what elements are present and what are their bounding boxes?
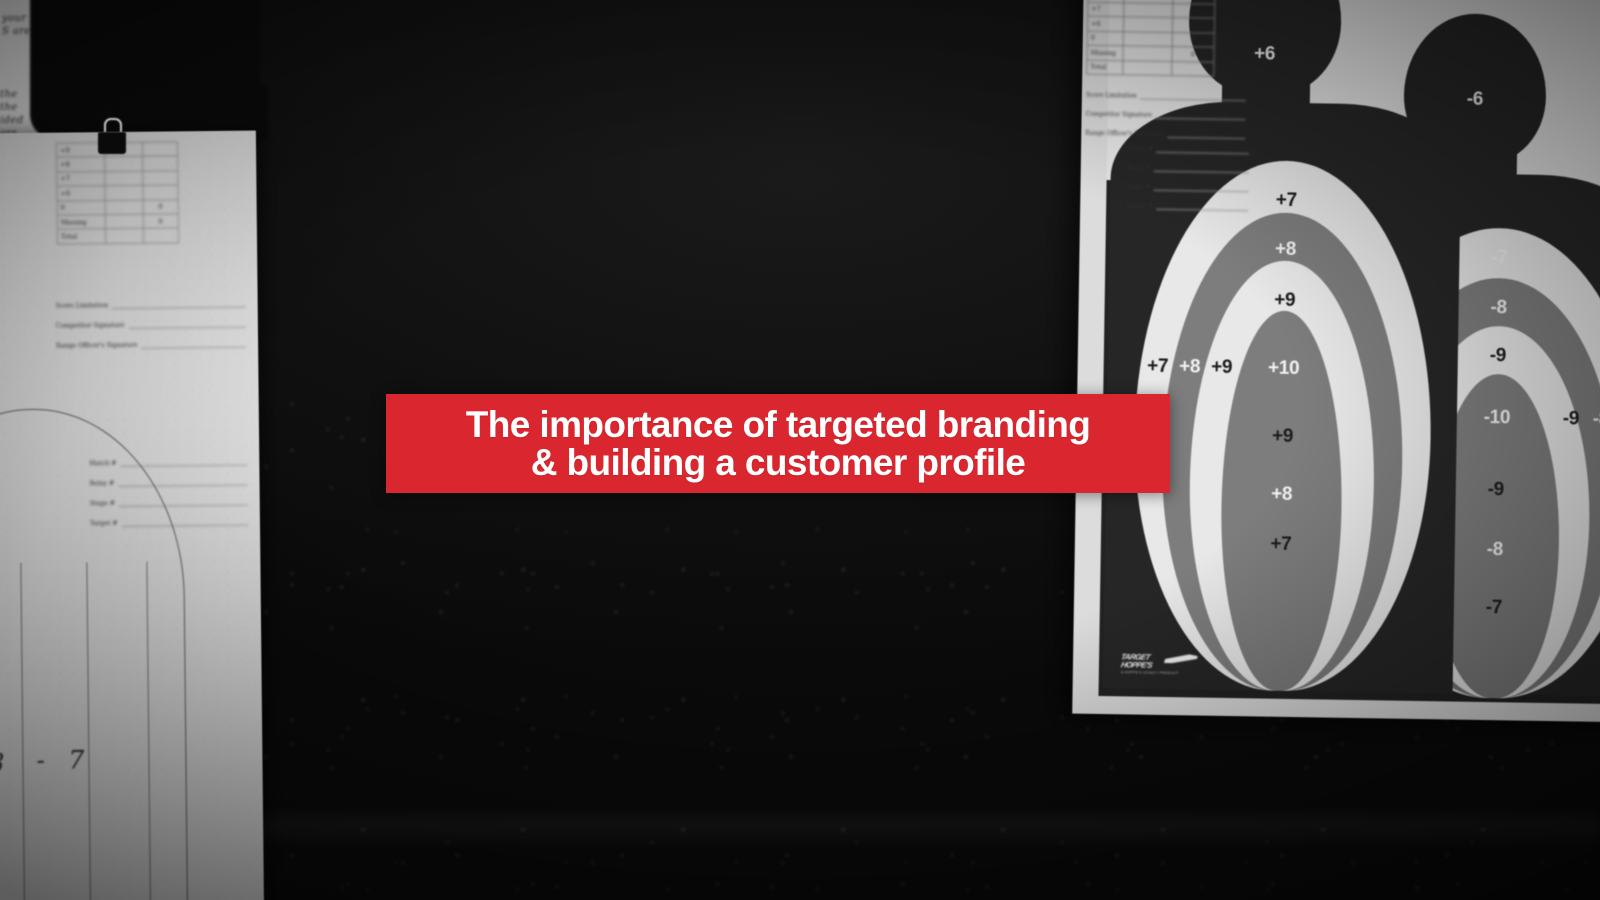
row-mid xyxy=(105,185,143,200)
left-signature-block: Score Limitation Competitor Signature Ra… xyxy=(56,301,247,363)
left-score-dash: - xyxy=(36,746,45,775)
rule xyxy=(1154,189,1249,192)
table-row: +6 xyxy=(57,185,178,201)
banner-image-stage: your S are the the ided ors. +9 +8 +7 xyxy=(0,0,1600,900)
front-h-score-0: +7 xyxy=(1147,356,1168,378)
brand-line-3: A HOPPE'S LEGACY PRODUCT xyxy=(1121,670,1179,675)
row-label: 0 xyxy=(1087,31,1124,46)
row-mid xyxy=(105,214,143,229)
front-h-score-1: +8 xyxy=(1179,356,1200,378)
hoppes-brand-logo: TARGET HOPPE'S A HOPPE'S LEGACY PRODUCT xyxy=(1121,652,1199,679)
rear-h-score-4: -9 xyxy=(1563,408,1580,430)
target-signature-block: Score Limitation Competitor Signature Ra… xyxy=(1085,92,1246,152)
rear-head-score: -6 xyxy=(1467,89,1484,111)
row-value: 0 xyxy=(143,199,179,214)
rule xyxy=(142,346,247,349)
left-score-sheet: +9 +8 +7 +6 0 0 xyxy=(0,131,264,900)
rule xyxy=(1140,98,1246,102)
numbered-label: Stage # xyxy=(1126,183,1151,190)
row-label: Missing xyxy=(57,215,105,230)
numbered-line: Relay # xyxy=(1127,164,1249,173)
signature-label: Range Officer's Signature xyxy=(1085,130,1164,138)
numbered-label: Relay # xyxy=(1127,164,1151,171)
front-head-score: +6 xyxy=(1254,43,1275,65)
front-h-score-center: +10 xyxy=(1268,358,1300,380)
headline-line-2: & building a customer profile xyxy=(466,444,1091,482)
signature-line: Range Officer's Signature xyxy=(56,341,246,350)
table-row: Total xyxy=(1087,60,1214,76)
row-label: +7 xyxy=(57,171,105,186)
rule xyxy=(1156,208,1248,211)
rule xyxy=(1156,151,1249,154)
row-value: 0 xyxy=(143,214,179,229)
row-value: 0 xyxy=(1172,32,1214,47)
target-score-table: +10 +9 +8 +7 +6 xyxy=(1086,0,1216,77)
table-row: +7 xyxy=(57,171,178,187)
numbered-line: Stage # xyxy=(1126,183,1248,192)
row-value xyxy=(1172,61,1214,76)
signature-line: Score Limitation xyxy=(1086,92,1246,102)
row-label: Total xyxy=(1087,60,1124,75)
left-score-7: 7 xyxy=(68,745,84,774)
row-mid xyxy=(1124,2,1173,17)
front-score-upper-7: +7 xyxy=(1276,190,1297,212)
rule xyxy=(1154,170,1249,173)
signature-line: Range Officer's Signature xyxy=(1085,130,1245,140)
row-mid xyxy=(1123,60,1172,75)
row-mid xyxy=(105,200,143,215)
row-label: Missing xyxy=(1087,45,1124,60)
signature-label: Score Limitation xyxy=(1086,92,1137,100)
left-scrap-text-top: your S are xyxy=(2,12,31,38)
row-value xyxy=(142,156,178,171)
numbered-label: Target # xyxy=(1126,202,1153,209)
row-value xyxy=(142,171,178,186)
left-score-8: 8 xyxy=(0,748,5,777)
numbered-line: Match # xyxy=(1127,145,1249,154)
signature-line: Competitor Signature xyxy=(56,321,246,330)
rear-score-upper-8: -8 xyxy=(1490,297,1507,319)
signature-line: Score Limitation xyxy=(56,301,246,310)
rear-score-lower-7: -7 xyxy=(1486,597,1503,619)
row-label: +7 xyxy=(1088,2,1125,17)
rule xyxy=(112,306,246,309)
rear-score-upper-7: -7 xyxy=(1491,247,1508,269)
row-value xyxy=(143,185,179,200)
table-row: 0 0 xyxy=(57,199,178,215)
front-score-upper-8: +8 xyxy=(1275,239,1296,261)
front-h-score-2: +9 xyxy=(1211,357,1232,379)
signature-label: Score Limitation xyxy=(56,302,108,310)
row-mid xyxy=(1124,31,1173,46)
signature-label: Competitor Signature xyxy=(56,322,125,330)
row-value xyxy=(143,228,179,243)
left-score-table: +9 +8 +7 +6 0 0 xyxy=(56,141,179,244)
rear-h-score-5: -8 xyxy=(1593,409,1600,431)
row-mid xyxy=(1124,17,1173,32)
row-value: 0 xyxy=(1172,47,1214,62)
front-score-upper-9: +9 xyxy=(1274,290,1295,312)
binder-clip-body xyxy=(98,132,126,154)
row-label: 0 xyxy=(57,200,105,215)
rear-score-upper-9: -9 xyxy=(1490,345,1507,367)
brand-line-2: HOPPE'S xyxy=(1120,660,1153,669)
signature-label: Competitor Signature xyxy=(1086,111,1153,119)
signature-label: Range Officer's Signature xyxy=(56,342,137,350)
headline-text: The importance of targeted branding & bu… xyxy=(452,406,1105,482)
row-value xyxy=(142,142,178,157)
front-score-lower-7: +7 xyxy=(1270,534,1291,556)
rear-score-lower-9: -9 xyxy=(1487,479,1504,501)
table-row: Total xyxy=(57,228,178,244)
headline-banner: The importance of targeted branding & bu… xyxy=(386,394,1170,493)
target-sheet: +10 +9 +8 +7 +6 xyxy=(1072,0,1600,722)
table-row: Missing 0 xyxy=(57,214,178,230)
swoosh-icon xyxy=(1164,654,1198,663)
row-label: +8 xyxy=(57,157,105,172)
row-mid xyxy=(105,171,143,186)
row-mid xyxy=(105,157,143,172)
front-score-lower-9: +9 xyxy=(1272,426,1293,448)
row-mid xyxy=(106,229,144,244)
rear-h-score-center: -10 xyxy=(1483,407,1510,429)
row-value xyxy=(1172,18,1214,33)
front-score-lower-8: +8 xyxy=(1271,484,1292,506)
row-label: +6 xyxy=(57,186,105,201)
rule xyxy=(1155,117,1246,120)
row-value xyxy=(1173,3,1215,18)
signature-line: Competitor Signature xyxy=(1086,111,1246,121)
table-row: +8 xyxy=(57,156,178,172)
target-numbered-block: Match # Relay # Stage # Target # xyxy=(1126,145,1249,223)
numbered-label: Match # xyxy=(1127,145,1153,152)
rule xyxy=(1167,136,1245,139)
rear-score-lower-8: -8 xyxy=(1487,539,1504,561)
row-mid xyxy=(1123,46,1172,61)
row-label: Total xyxy=(57,229,105,244)
row-label: +6 xyxy=(1087,16,1124,31)
numbered-line: Target # xyxy=(1126,202,1248,211)
headline-line-1: The importance of targeted branding xyxy=(466,404,1091,445)
binder-clip-icon xyxy=(96,118,128,154)
rule xyxy=(128,326,246,329)
